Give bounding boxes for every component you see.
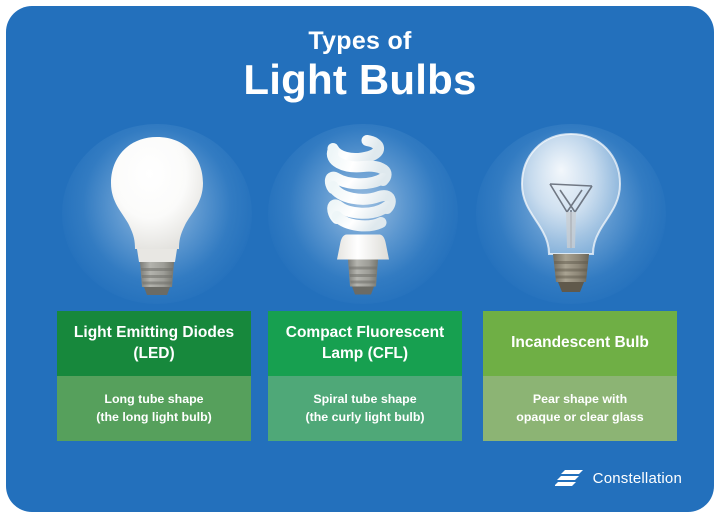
led-screw-base <box>140 262 174 295</box>
card-led: Light Emitting Diodes (LED) Long tube sh… <box>57 311 251 441</box>
title-line-2: Light Bulbs <box>6 56 714 103</box>
card-cfl-body: Spiral tube shape (the curly light bulb) <box>268 376 462 441</box>
bulb-illustrations <box>6 126 714 301</box>
incandescent-bulb-icon <box>508 128 634 300</box>
title-line-1: Types of <box>6 28 714 54</box>
constellation-stripes-icon <box>555 468 585 488</box>
constellation-logo: Constellation <box>555 468 682 488</box>
cfl-housing <box>337 234 389 259</box>
cfl-bulb-cell <box>258 126 468 301</box>
cfl-spiral-tube <box>330 140 390 238</box>
incandescent-screw-base <box>553 254 589 292</box>
infographic-poster: Types of Light Bulbs <box>6 6 714 512</box>
bulb-type-cards: Light Emitting Diodes (LED) Long tube sh… <box>6 311 714 443</box>
card-incandescent-body-line-1: Pear shape with <box>533 391 627 409</box>
card-led-body-line-2: (the long light bulb) <box>96 409 212 427</box>
cfl-screw-base <box>348 259 378 294</box>
led-bulb-cell <box>52 126 262 301</box>
page-title: Types of Light Bulbs <box>6 28 714 103</box>
incandescent-stem <box>566 212 576 248</box>
card-incandescent-body-line-2: opaque or clear glass <box>516 409 643 427</box>
led-glass <box>111 137 203 249</box>
card-incandescent-header: Incandescent Bulb <box>483 311 677 376</box>
led-bulb-icon <box>97 129 217 299</box>
cfl-bulb-icon <box>303 126 423 301</box>
card-cfl-header: Compact Fluorescent Lamp (CFL) <box>268 311 462 376</box>
card-led-header: Light Emitting Diodes (LED) <box>57 311 251 376</box>
card-cfl: Compact Fluorescent Lamp (CFL) Spiral tu… <box>268 311 462 441</box>
card-incandescent-body: Pear shape with opaque or clear glass <box>483 376 677 441</box>
card-cfl-body-line-1: Spiral tube shape <box>313 391 416 409</box>
card-led-body: Long tube shape (the long light bulb) <box>57 376 251 441</box>
led-neck <box>137 249 177 262</box>
constellation-logo-text: Constellation <box>593 470 682 487</box>
card-cfl-body-line-2: (the curly light bulb) <box>305 409 424 427</box>
incandescent-bulb-cell <box>466 126 676 301</box>
card-incandescent: Incandescent Bulb Pear shape with opaque… <box>483 311 677 441</box>
card-led-body-line-1: Long tube shape <box>104 391 203 409</box>
